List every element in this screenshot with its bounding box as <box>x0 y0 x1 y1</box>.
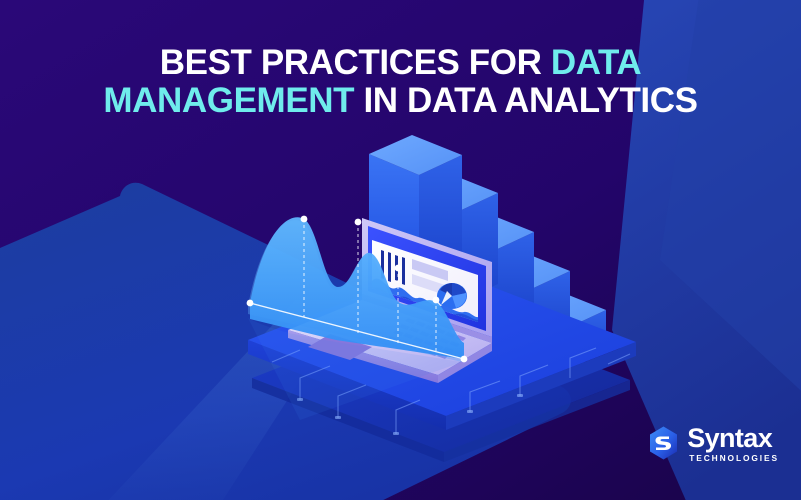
wave-point-2 <box>355 219 362 226</box>
dashboard-pie-chart <box>437 283 467 309</box>
wave-point-5 <box>461 356 468 363</box>
wave-point-1 <box>301 216 308 223</box>
logo-tagline: TECHNOLOGIES <box>689 454 779 462</box>
banner-root: BEST PRACTICES FOR DATA MANAGEMENT IN DA… <box>0 0 801 500</box>
logo-wordmark: Syntax TECHNOLOGIES <box>687 425 779 462</box>
logo-name: Syntax <box>687 425 772 452</box>
brand-logo[interactable]: Syntax TECHNOLOGIES <box>648 425 779 462</box>
wave-point-3 <box>395 265 402 272</box>
hexagon-s-icon <box>648 426 679 460</box>
wave-point-4 <box>433 297 440 304</box>
wave-point-0 <box>247 300 254 307</box>
